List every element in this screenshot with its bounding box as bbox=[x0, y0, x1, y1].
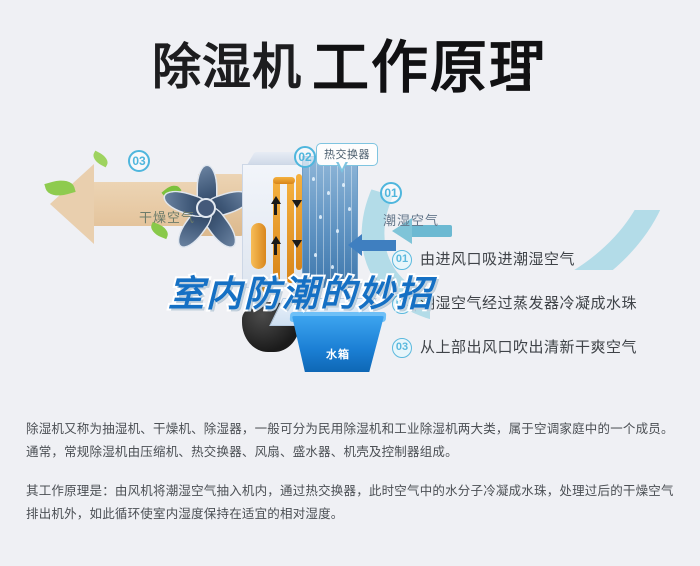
paragraph-1-line-1: 除湿机又称为抽湿机、干燥机、除湿器，一般可分为民用除湿机和工业除湿机两大类，属于… bbox=[26, 418, 674, 441]
article-body: 除湿机又称为抽湿机、干燥机、除湿器，一般可分为民用除湿机和工业除湿机两大类，属于… bbox=[0, 418, 700, 542]
step-number: 03 bbox=[392, 338, 412, 358]
condensation-droplet bbox=[342, 183, 345, 187]
airflow-arrow-up bbox=[274, 203, 277, 215]
paragraph-2-line-1: 其工作原理是：由风机将潮湿空气抽入机内，通过热交换器，此时空气中的水分子冷凝成水… bbox=[26, 480, 674, 503]
accumulator-cylinder bbox=[251, 223, 266, 269]
airflow-arrow-up bbox=[271, 196, 281, 204]
inlet-airflow-arrow-body bbox=[358, 240, 396, 251]
condensation-droplet bbox=[348, 207, 351, 211]
water-tank bbox=[292, 316, 384, 372]
condenser-pipe bbox=[296, 174, 302, 270]
page-title-primary: 除湿机 bbox=[152, 41, 302, 95]
condensation-droplet bbox=[319, 215, 322, 219]
step-text: 从上部出风口吹出清新干爽空气 bbox=[420, 336, 637, 360]
dehumidifier-diagram: 水箱 03 干燥空气 02 热交换器 01 潮湿空气 01 由进风口吸进潮湿空气… bbox=[0, 120, 700, 405]
dry-air-arrow-head bbox=[50, 164, 94, 244]
paragraph-1-line-2: 通常，常规除湿机由压缩机、热交换器、风扇、盛水器、机壳及控制器组成。 bbox=[26, 441, 674, 464]
paragraph-2-line-2: 排出机外，如此循环使室内湿度保持在适宜的相对湿度。 bbox=[26, 503, 674, 526]
watermark-title: 室内防潮的妙招 bbox=[168, 265, 434, 317]
list-item: 03 从上部出风口吹出清新干爽空气 bbox=[392, 336, 682, 366]
inlet-airflow-arrow-head bbox=[348, 234, 362, 256]
refrigerant-arrow-down bbox=[292, 240, 302, 248]
humid-air-label: 潮湿空气 bbox=[383, 210, 439, 229]
condensation-droplet bbox=[312, 177, 315, 181]
refrigerant-arrow-down bbox=[292, 200, 302, 208]
fan-hub bbox=[196, 198, 216, 218]
dry-air-label: 干燥空气 bbox=[139, 207, 195, 226]
water-tank-label: 水箱 bbox=[292, 346, 384, 362]
step-list: 01 由进风口吸进潮湿空气 02 潮湿空气经过蒸发器冷凝成水珠 03 从上部出风… bbox=[392, 248, 682, 380]
condensation-droplet bbox=[327, 191, 330, 195]
callout-badge-heat-exchanger: 02 bbox=[294, 146, 316, 168]
condensation-droplet bbox=[336, 229, 339, 233]
infographic-page: 除湿机工作原理 bbox=[0, 0, 700, 566]
dehumidifier-unit: 水箱 bbox=[240, 152, 370, 372]
step-text: 潮湿空气经过蒸发器冷凝成水珠 bbox=[420, 292, 637, 316]
list-item: 01 由进风口吸进潮湿空气 bbox=[392, 248, 682, 278]
step-text: 由进风口吸进潮湿空气 bbox=[420, 248, 575, 272]
callout-badge-humid-air: 01 bbox=[380, 182, 402, 204]
condensation-droplet bbox=[314, 253, 317, 257]
arc-mask-top bbox=[530, 60, 700, 210]
paragraph-2: 其工作原理是：由风机将潮湿空气抽入机内，通过热交换器，此时空气中的水分子冷凝成水… bbox=[26, 480, 674, 526]
paragraph-1: 除湿机又称为抽湿机、干燥机、除湿器，一般可分为民用除湿机和工业除湿机两大类，属于… bbox=[26, 418, 674, 464]
coil-crossover bbox=[273, 177, 295, 184]
callout-badge-dry-air: 03 bbox=[128, 150, 150, 172]
list-item: 02 潮湿空气经过蒸发器冷凝成水珠 bbox=[392, 292, 682, 322]
airflow-arrow-up bbox=[271, 236, 281, 244]
airflow-arrow-up bbox=[274, 243, 277, 255]
callout-tail-inner bbox=[338, 161, 346, 169]
